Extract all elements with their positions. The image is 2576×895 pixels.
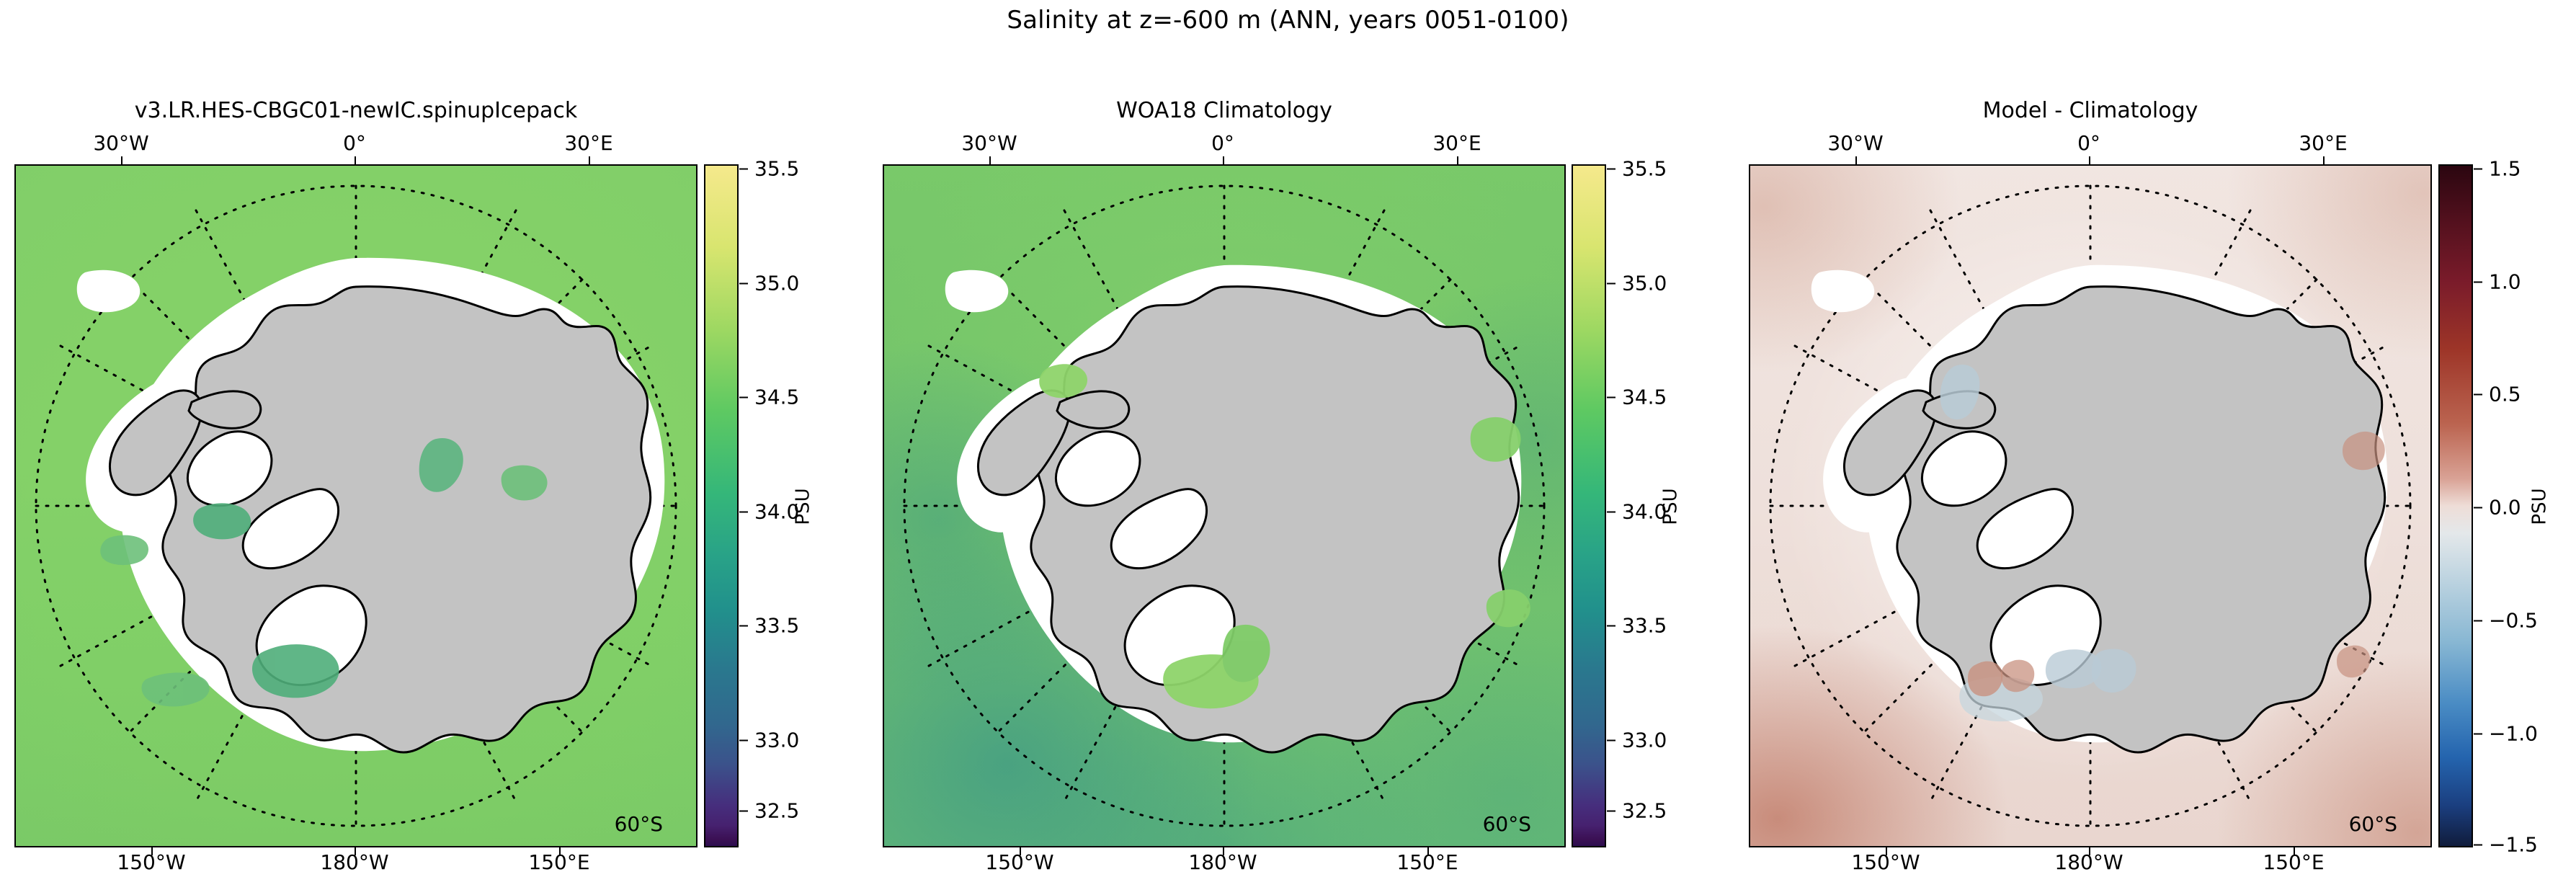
lon-label-top-30w: 30°W bbox=[1827, 131, 1883, 155]
cbar-tick-dash bbox=[1607, 810, 1615, 811]
cbar-tick-dash bbox=[739, 282, 748, 284]
cbar-tick-dash bbox=[2474, 620, 2482, 621]
cbar-tick-label: 0.5 bbox=[2489, 383, 2521, 406]
axis-tick-bottom bbox=[2294, 847, 2295, 855]
antarctica-landmass bbox=[1750, 166, 2430, 846]
axis-tick-top bbox=[2089, 156, 2090, 164]
panel-model: v3.LR.HES-CBGC01-newIC.spinupIcepack 30°… bbox=[14, 164, 698, 847]
cbar-tick-dash bbox=[1607, 168, 1615, 169]
cbar-tick-dash bbox=[1607, 625, 1615, 626]
colorbar-label-climatology: PSU bbox=[1660, 488, 1682, 525]
map-axes-climatology[interactable]: 60°S bbox=[883, 164, 1566, 847]
colorbar-label-difference: PSU bbox=[2529, 488, 2551, 525]
cbar-tick-label: 34.5 bbox=[1622, 386, 1667, 409]
axis-tick-bottom bbox=[1020, 847, 1021, 855]
axis-tick-bottom bbox=[151, 847, 153, 855]
lon-label-top-0: 0° bbox=[1211, 131, 1234, 155]
cbar-tick-dash bbox=[739, 511, 748, 512]
nw-shelf-patch bbox=[77, 270, 141, 313]
cbar-tick-label: 33.5 bbox=[754, 614, 799, 638]
continent-fill bbox=[1031, 287, 1519, 752]
cbar-tick-label: 35.5 bbox=[1622, 157, 1667, 181]
cbar-tick-label: 35.0 bbox=[754, 272, 799, 295]
cbar-tick-label: 0.0 bbox=[2489, 496, 2521, 520]
axis-tick-bottom bbox=[355, 847, 356, 855]
map-axes-difference[interactable]: 60°S bbox=[1749, 164, 2432, 847]
lon-label-top-30e: 30°E bbox=[564, 131, 612, 155]
colorbar-climatology[interactable] bbox=[1572, 164, 1606, 847]
cbar-tick-dash bbox=[2474, 507, 2482, 508]
colorbar-ticks-difference: 1.5 1.0 0.5 0.0 −0.5 −1.0 −1.5 bbox=[2474, 164, 2576, 847]
axis-tick-bottom bbox=[2089, 847, 2090, 855]
cbar-tick-label: 32.5 bbox=[754, 799, 799, 823]
lon-label-top-30e: 30°E bbox=[2299, 131, 2347, 155]
axis-tick-top bbox=[1855, 156, 1857, 164]
cbar-tick-label: −0.5 bbox=[2489, 609, 2538, 633]
axis-tick-top bbox=[589, 156, 590, 164]
axis-tick-top bbox=[2323, 156, 2325, 164]
cbar-tick-dash bbox=[2474, 281, 2482, 282]
cbar-tick-label: 32.5 bbox=[1622, 799, 1667, 823]
cbar-tick-label: 1.5 bbox=[2489, 157, 2521, 181]
figure-title: Salinity at z=-600 m (ANN, years 0051-01… bbox=[0, 6, 2576, 35]
panel-title-model: v3.LR.HES-CBGC01-newIC.spinupIcepack bbox=[14, 98, 698, 123]
cbar-tick-dash bbox=[2474, 393, 2482, 395]
cbar-tick-dash bbox=[739, 168, 748, 169]
cbar-tick-dash bbox=[1607, 511, 1615, 512]
cbar-tick-label: 35.0 bbox=[1622, 272, 1667, 295]
cbar-tick-label: 35.5 bbox=[754, 157, 799, 181]
lon-label-top-30w: 30°W bbox=[93, 131, 148, 155]
cbar-tick-dash bbox=[739, 739, 748, 741]
cbar-tick-label: 33.0 bbox=[754, 729, 799, 752]
antarctica-landmass bbox=[16, 166, 696, 846]
antarctica-landmass bbox=[884, 166, 1564, 846]
lon-label-top-0: 0° bbox=[2077, 131, 2100, 155]
panel-title-climatology: WOA18 Climatology bbox=[883, 98, 1566, 123]
cbar-tick-dash bbox=[2474, 844, 2482, 845]
nw-shelf-patch bbox=[945, 270, 1009, 313]
colorbar-difference[interactable] bbox=[2438, 164, 2473, 847]
axis-tick-top bbox=[1223, 156, 1224, 164]
cbar-tick-label: 34.5 bbox=[754, 386, 799, 409]
axis-tick-bottom bbox=[1886, 847, 1887, 855]
cbar-tick-dash bbox=[1607, 739, 1615, 741]
cbar-tick-dash bbox=[1607, 396, 1615, 398]
panel-climatology: WOA18 Climatology 30°W 0° 30°E 150°W 180… bbox=[883, 164, 1566, 847]
axis-tick-bottom bbox=[559, 847, 561, 855]
cbar-tick-dash bbox=[739, 810, 748, 811]
cbar-tick-label: −1.0 bbox=[2489, 722, 2538, 746]
map-axes-model[interactable]: 60°S bbox=[14, 164, 698, 847]
axis-tick-top bbox=[355, 156, 356, 164]
lon-label-top-30e: 30°E bbox=[1432, 131, 1481, 155]
figure-canvas: Salinity at z=-600 m (ANN, years 0051-01… bbox=[0, 0, 2576, 895]
lon-label-top-30w: 30°W bbox=[961, 131, 1017, 155]
axis-tick-bottom bbox=[1427, 847, 1429, 855]
lat-label-60s: 60°S bbox=[2349, 812, 2397, 836]
cbar-tick-label: 1.0 bbox=[2489, 270, 2521, 294]
colorbar-label-model: PSU bbox=[793, 488, 814, 525]
cbar-tick-dash bbox=[739, 625, 748, 626]
cbar-tick-label: −1.5 bbox=[2489, 833, 2538, 857]
colorbar-model[interactable] bbox=[704, 164, 739, 847]
lat-label-60s: 60°S bbox=[615, 812, 663, 836]
cbar-tick-dash bbox=[2474, 733, 2482, 734]
panel-title-difference: Model - Climatology bbox=[1749, 98, 2432, 123]
cbar-tick-dash bbox=[739, 396, 748, 398]
panel-difference: Model - Climatology 30°W 0° 30°E 150°W 1… bbox=[1749, 164, 2432, 847]
cbar-tick-label: 33.5 bbox=[1622, 614, 1667, 638]
lat-label-60s: 60°S bbox=[1483, 812, 1531, 836]
cbar-tick-dash bbox=[2474, 168, 2482, 169]
axis-tick-top bbox=[121, 156, 122, 164]
lon-label-top-0: 0° bbox=[343, 131, 366, 155]
axis-tick-bottom bbox=[1223, 847, 1224, 855]
cbar-tick-dash bbox=[1607, 282, 1615, 284]
axis-tick-top bbox=[989, 156, 991, 164]
axis-tick-top bbox=[1457, 156, 1458, 164]
nw-shelf-patch bbox=[1811, 270, 1875, 313]
cbar-tick-label: 33.0 bbox=[1622, 729, 1667, 752]
